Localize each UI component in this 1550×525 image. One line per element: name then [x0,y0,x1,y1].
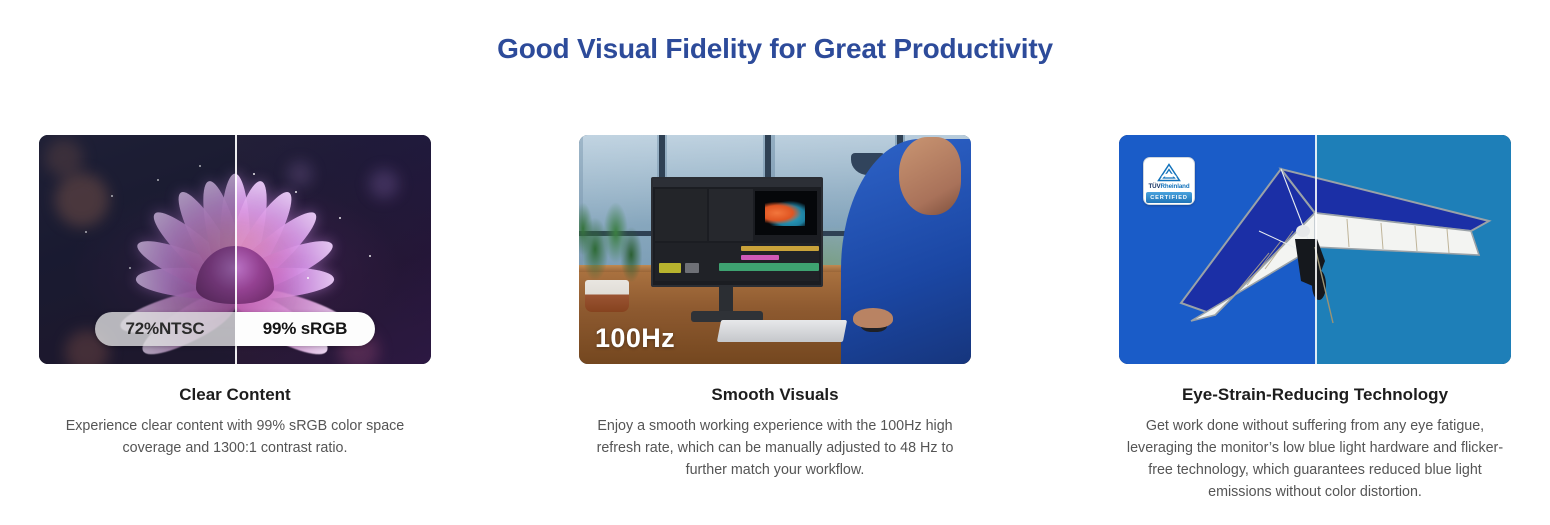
feature-card-smooth-visuals: 100Hz Smooth Visuals Enjoy a smooth work… [579,135,971,482]
card-description: Enjoy a smooth working experience with t… [585,416,965,481]
video-preview [755,191,817,235]
page-root: Good Visual Fidelity for Great Productiv… [0,0,1550,525]
person-head [899,137,961,215]
gamut-label-ntsc: 72%NTSC [95,312,235,346]
gamut-comparison-pill: 72%NTSC 99% sRGB [95,312,375,346]
comparison-divider [1315,135,1317,364]
card-title: Clear Content [179,385,290,405]
tuv-triangle-icon [1157,162,1181,182]
card-description: Experience clear content with 99% sRGB c… [45,416,425,459]
tuv-rheinland-certified-badge: TÜVRheinland CERTIFIED [1143,157,1195,205]
card-media-flower-comparison: 72%NTSC 99% sRGB [39,135,431,364]
glider-scene: TÜVRheinland CERTIFIED [1119,135,1511,364]
card-media-glider-comparison: TÜVRheinland CERTIFIED [1119,135,1511,364]
tuv-brand-tuv: TÜV [1148,183,1160,190]
card-title: Smooth Visuals [711,385,838,405]
editor-timeline [655,243,819,281]
card-description: Get work done without suffering from any… [1125,416,1505,503]
feature-card-grid: 72%NTSC 99% sRGB Clear Content Experienc… [0,135,1550,503]
page-title: Good Visual Fidelity for Great Productiv… [0,33,1550,65]
card-media-desk-scene: 100Hz [579,135,971,364]
card-title: Eye-Strain-Reducing Technology [1182,385,1448,405]
refresh-rate-label: 100Hz [595,323,675,354]
plant-pot [585,280,629,312]
monitor-screen [651,177,823,287]
gamut-label-srgb: 99% sRGB [235,312,375,346]
person-hand [853,308,893,328]
tuv-brand-rheinland: Rheinland [1161,183,1190,190]
feature-card-clear-content: 72%NTSC 99% sRGB Clear Content Experienc… [39,135,431,460]
monitor-stand [719,287,733,313]
plant-leaves [579,194,657,286]
keyboard [717,320,847,342]
tuv-certified-bar: CERTIFIED [1146,192,1192,203]
feature-card-eye-strain: TÜVRheinland CERTIFIED Eye-Strain-Reduci… [1119,135,1511,503]
tuv-brand-text: TÜVRheinland [1148,183,1189,190]
